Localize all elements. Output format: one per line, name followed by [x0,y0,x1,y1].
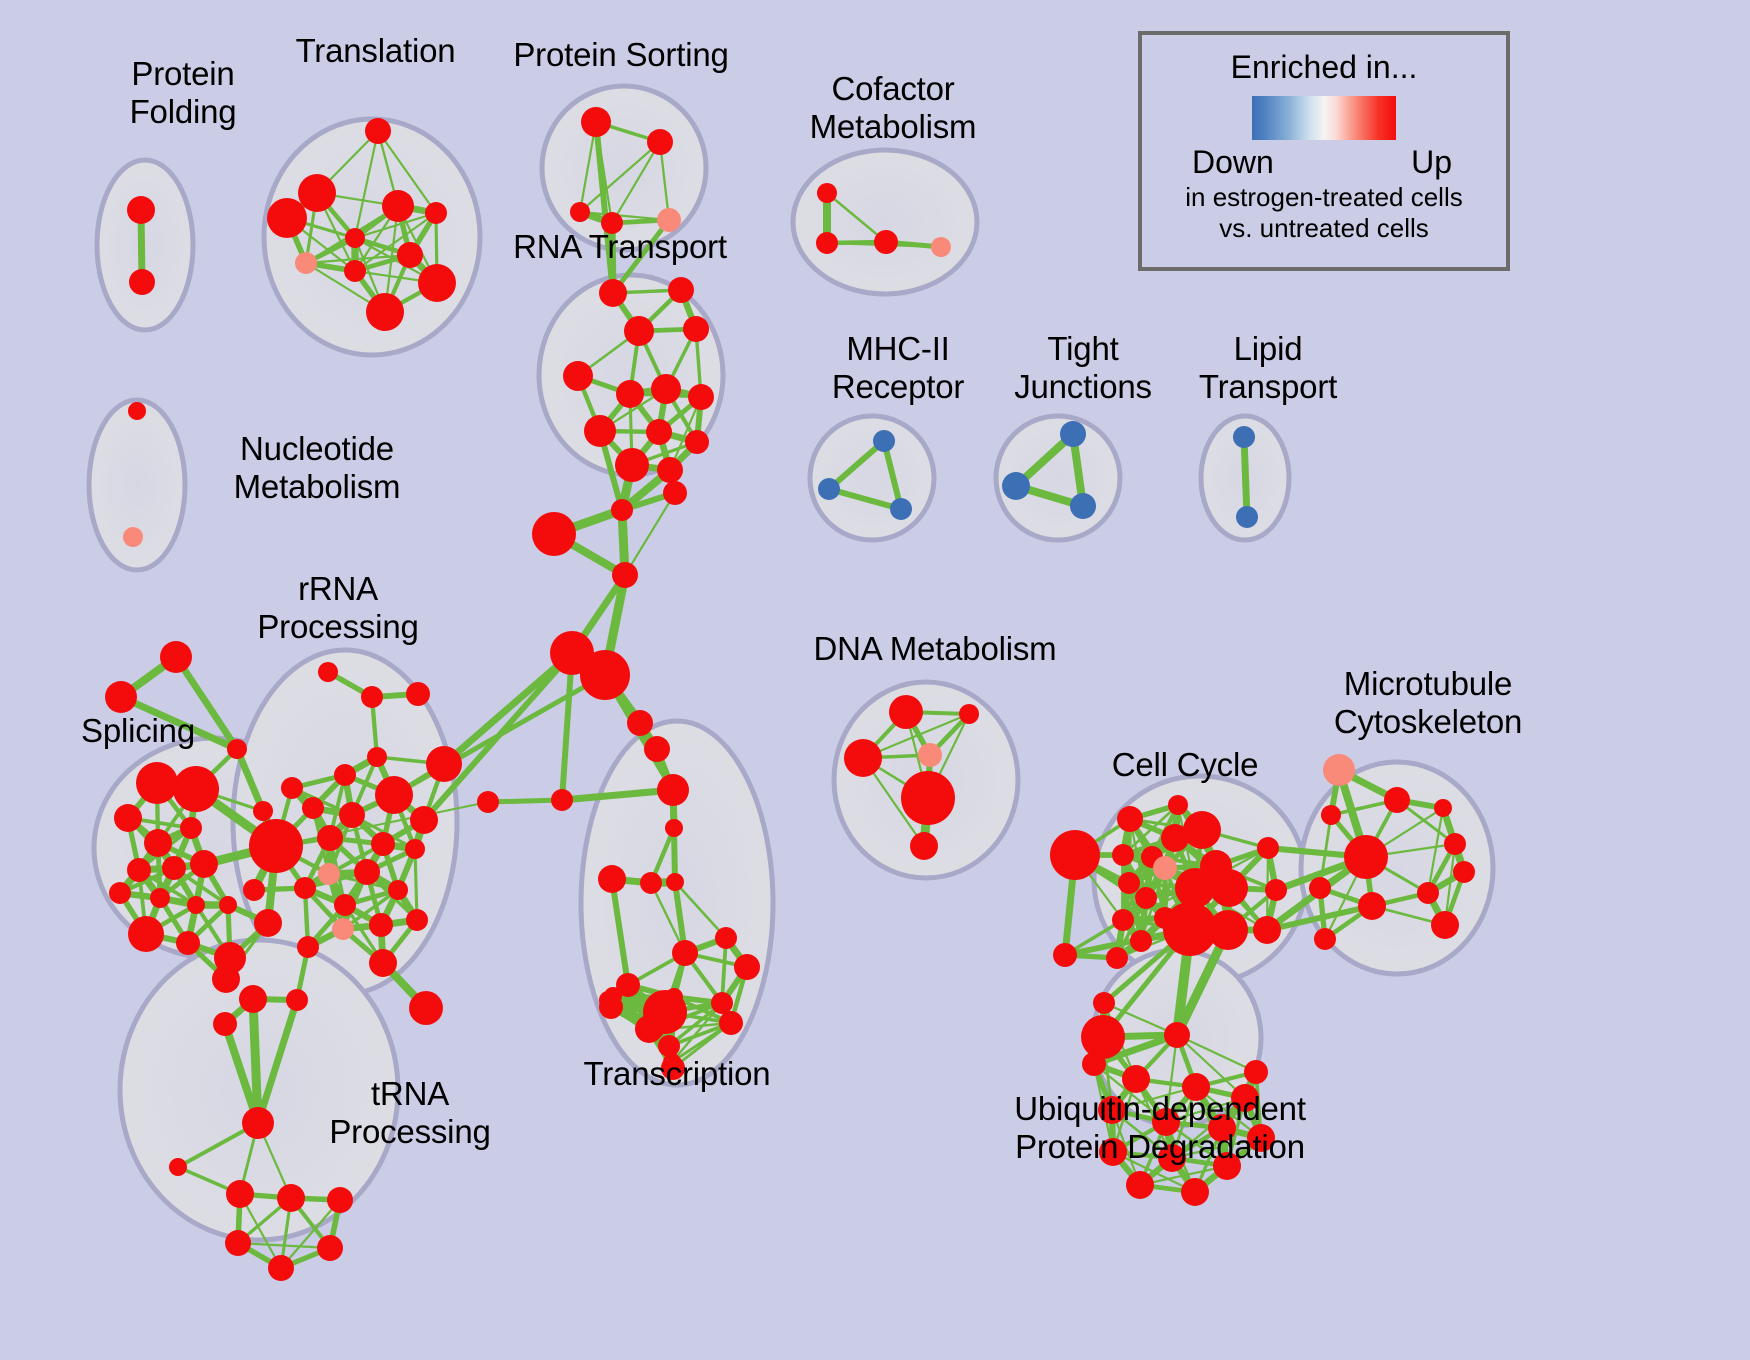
network-node[interactable] [666,873,684,891]
network-node[interactable] [388,880,408,900]
network-node[interactable] [298,174,336,212]
network-node[interactable] [425,202,447,224]
network-node[interactable] [711,992,733,1014]
network-node[interactable] [1236,506,1258,528]
network-node[interactable] [317,825,343,851]
cluster-label-cofactor-metabolism: Cofactor Metabolism [795,70,991,146]
edge-bridge [253,999,258,1123]
network-node[interactable] [371,832,395,856]
network-node[interactable] [1253,916,1281,944]
cluster-label-splicing: Splicing [48,712,228,750]
cluster-label-ubiquitin-protein-degradation: Ubiquitin-dependent Protein Degradation [980,1090,1340,1166]
network-node[interactable] [584,415,616,447]
network-node[interactable] [227,739,247,759]
network-node[interactable] [1183,811,1221,849]
network-node[interactable] [160,641,192,673]
network-node[interactable] [128,916,164,952]
network-node[interactable] [1384,787,1410,813]
network-node[interactable] [551,789,573,811]
network-node[interactable] [382,190,414,222]
network-node[interactable] [1070,493,1096,519]
network-node[interactable] [873,430,895,452]
network-node[interactable] [563,361,593,391]
network-node[interactable] [1117,806,1143,832]
network-node[interactable] [334,894,356,916]
network-node[interactable] [418,264,456,302]
network-node[interactable] [277,1184,305,1212]
network-node[interactable] [1265,879,1287,901]
network-node[interactable] [173,766,219,812]
network-node[interactable] [162,856,186,880]
network-node[interactable] [581,107,611,137]
legend-colorbar [1252,96,1396,140]
network-node[interactable] [1323,754,1355,786]
network-node[interactable] [267,198,307,238]
cluster-blob-protein-folding [97,160,193,330]
network-node[interactable] [612,562,638,588]
network-node[interactable] [144,829,172,857]
network-node[interactable] [129,269,155,295]
network-node[interactable] [816,232,838,254]
network-node[interactable] [624,316,654,346]
network-node[interactable] [874,230,898,254]
network-node[interactable] [114,804,142,832]
network-node[interactable] [931,237,951,257]
legend-endpoints: Down Up [1204,142,1444,184]
network-node[interactable] [1233,426,1255,448]
network-node[interactable] [1210,869,1248,907]
network-node[interactable] [734,954,760,980]
network-node[interactable] [294,877,316,899]
network-node[interactable] [254,909,282,937]
edge-bridge [488,800,562,802]
network-node[interactable] [332,918,354,940]
network-node[interactable] [212,965,240,993]
network-node[interactable] [1344,835,1388,879]
network-node[interactable] [1434,799,1452,817]
network-node[interactable] [647,129,673,155]
network-node[interactable] [1175,868,1215,908]
legend-up-label: Up [1411,144,1452,181]
cluster-label-dna-metabolism: DNA Metabolism [810,630,1060,668]
network-node[interactable] [344,260,366,282]
network-node[interactable] [665,819,683,837]
network-node[interactable] [366,293,404,331]
network-node[interactable] [910,832,938,860]
network-node[interactable] [1122,1065,1150,1093]
cluster-label-microtubule-cytoskeleton: Microtubule Cytoskeleton [1303,665,1553,741]
network-node[interactable] [580,650,630,700]
cluster-blob-cofactor-metabolism [793,150,977,294]
network-node[interactable] [844,739,882,777]
network-node[interactable] [890,498,912,520]
edge-bridge [1244,437,1247,517]
network-node[interactable] [1118,872,1140,894]
network-node[interactable] [611,499,633,521]
network-node[interactable] [409,991,443,1025]
network-node[interactable] [688,384,714,410]
network-node[interactable] [1050,830,1100,880]
network-node[interactable] [616,380,644,408]
network-node[interactable] [1431,911,1459,939]
cluster-label-mhc-ii-receptor: MHC-II Receptor [800,330,996,406]
network-node[interactable] [150,888,170,908]
network-node[interactable] [128,402,146,420]
network-node[interactable] [302,797,324,819]
network-node[interactable] [405,839,425,859]
network-node[interactable] [105,681,137,713]
network-node[interactable] [570,202,590,222]
network-node[interactable] [410,806,438,834]
network-node[interactable] [249,819,303,873]
network-node[interactable] [599,995,623,1019]
network-node[interactable] [243,879,265,901]
network-node[interactable] [219,896,237,914]
cluster-label-rna-transport: RNA Transport [500,228,740,266]
network-node[interactable] [1314,928,1336,950]
cluster-blob-mhc-ii-receptor [810,416,934,540]
cluster-label-protein-sorting: Protein Sorting [500,36,742,74]
network-node[interactable] [180,817,202,839]
network-node[interactable] [1081,1015,1125,1059]
network-node[interactable] [286,989,308,1011]
network-node[interactable] [1130,930,1152,952]
network-node[interactable] [1126,1171,1154,1199]
network-node[interactable] [281,777,303,799]
network-node[interactable] [1321,805,1341,825]
edge-bridge [444,653,572,764]
legend-box: Enriched in... Down Up in estrogen-treat… [1138,31,1510,271]
network-node[interactable] [1053,943,1077,967]
network-node[interactable] [1257,837,1279,859]
network-node[interactable] [268,1255,294,1281]
cluster-label-cell-cycle: Cell Cycle [1100,746,1270,784]
network-node[interactable] [818,478,840,500]
network-node[interactable] [339,802,365,828]
network-node[interactable] [127,196,155,224]
network-node[interactable] [901,771,955,825]
network-node[interactable] [297,936,319,958]
network-node[interactable] [242,1107,274,1139]
network-node[interactable] [817,183,837,203]
network-figure: Protein FoldingTranslationNucleotide Met… [0,0,1750,1360]
network-node[interactable] [1060,421,1086,447]
network-node[interactable] [127,858,151,882]
legend-caption: in estrogen-treated cells vs. untreated … [1142,182,1506,244]
network-node[interactable] [369,913,393,937]
network-node[interactable] [668,277,694,303]
cluster-label-translation: Translation [258,32,493,70]
network-node[interactable] [1164,1022,1190,1048]
cluster-label-lipid-transport: Lipid Transport [1170,330,1366,406]
network-node[interactable] [627,710,653,736]
network-node[interactable] [1444,833,1466,855]
network-node[interactable] [1002,472,1030,500]
network-node[interactable] [715,927,737,949]
network-node[interactable] [889,695,923,729]
network-node[interactable] [123,527,143,547]
network-node[interactable] [354,859,380,885]
network-node[interactable] [1093,992,1115,1014]
network-node[interactable] [683,316,709,342]
network-node[interactable] [635,1015,663,1043]
network-node[interactable] [959,704,979,724]
network-node[interactable] [651,374,681,404]
network-node[interactable] [1153,856,1177,880]
legend-title: Enriched in... [1142,49,1506,86]
network-node[interactable] [599,279,627,307]
network-node[interactable] [532,512,576,556]
network-node[interactable] [685,430,709,454]
network-node[interactable] [1358,892,1386,920]
network-node[interactable] [1208,910,1248,950]
network-node[interactable] [657,457,683,483]
network-node[interactable] [665,988,683,1006]
network-node[interactable] [226,1180,254,1208]
network-node[interactable] [169,1158,187,1176]
network-node[interactable] [190,850,218,878]
network-node[interactable] [477,791,499,813]
cluster-label-trna-processing: tRNA Processing [310,1075,510,1151]
network-node[interactable] [369,949,397,977]
network-node[interactable] [1453,861,1475,883]
cluster-label-tight-junctions: Tight Junctions [985,330,1181,406]
network-node[interactable] [109,882,131,904]
network-node[interactable] [334,764,356,786]
network-node[interactable] [918,743,942,767]
network-node[interactable] [213,1012,237,1036]
network-node[interactable] [406,909,428,931]
network-node[interactable] [1135,887,1157,909]
edge-bridge [562,653,572,800]
network-node[interactable] [1417,882,1439,904]
network-node[interactable] [239,985,267,1013]
network-node[interactable] [187,896,205,914]
network-node[interactable] [615,448,649,482]
network-node[interactable] [1112,844,1134,866]
network-node[interactable] [1106,947,1128,969]
network-node[interactable] [719,1011,743,1035]
network-node[interactable] [295,252,317,274]
cluster-label-rrna-processing: rRNA Processing [238,570,438,646]
cluster-label-nucleotide-metabolism: Nucleotide Metabolism [192,430,442,506]
network-node[interactable] [1168,795,1188,815]
network-node[interactable] [646,419,672,445]
network-node[interactable] [598,865,626,893]
cluster-label-protein-folding: Protein Folding [78,55,288,131]
network-node[interactable] [225,1230,251,1256]
network-node[interactable] [327,1187,353,1213]
network-node[interactable] [318,662,338,682]
network-node[interactable] [345,228,365,248]
network-node[interactable] [406,682,430,706]
network-node[interactable] [640,872,662,894]
network-node[interactable] [365,118,391,144]
network-node[interactable] [657,774,689,806]
network-node[interactable] [136,762,178,804]
network-node[interactable] [672,940,698,966]
network-node[interactable] [253,801,273,821]
network-node[interactable] [426,746,462,782]
network-node[interactable] [1309,877,1331,899]
cluster-blob-protein-sorting [542,86,706,250]
network-node[interactable] [176,931,200,955]
cluster-label-transcription: Transcription [572,1055,782,1093]
network-node[interactable] [318,863,340,885]
network-node[interactable] [317,1235,343,1261]
network-node[interactable] [1181,1178,1209,1206]
network-node[interactable] [367,747,387,767]
network-node[interactable] [375,776,413,814]
legend-down-label: Down [1192,144,1274,181]
network-node[interactable] [361,686,383,708]
network-node[interactable] [397,242,423,268]
network-node[interactable] [663,481,687,505]
network-node[interactable] [644,736,670,762]
network-node[interactable] [1112,909,1134,931]
network-node[interactable] [1244,1060,1268,1084]
